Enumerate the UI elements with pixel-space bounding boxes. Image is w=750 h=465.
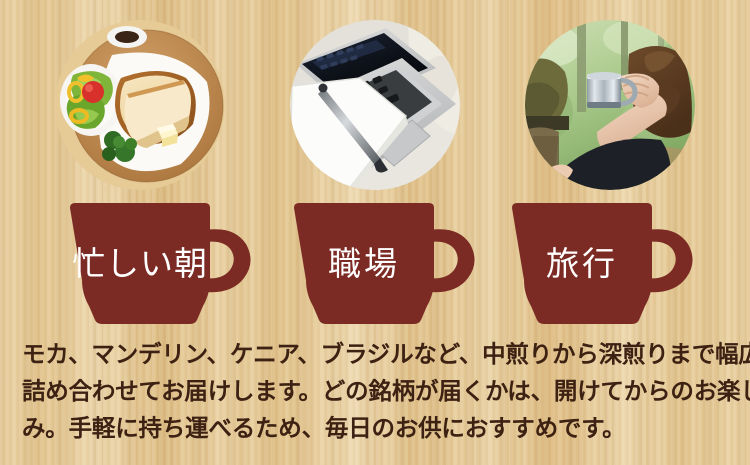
outdoor-mug-photo xyxy=(525,20,695,190)
description-line-1: モカ、マンデリン、ケニア、ブラジルなど、中煎りから深煎りまで幅広く xyxy=(22,336,734,373)
cup-badge-workplace: 職場 xyxy=(290,202,486,324)
description-text: モカ、マンデリン、ケニア、ブラジルなど、中煎りから深煎りまで幅広く 詰め合わせて… xyxy=(22,336,734,447)
cup-badge-travel: 旅行 xyxy=(508,202,704,324)
description-line-2: 詰め合わせてお届けします。どの銘柄が届くかは、開けてからのお楽し xyxy=(22,373,734,410)
cup-label-workplace: 職場 xyxy=(290,202,438,324)
cup-badge-row: 忙しい朝 職場 旅行 xyxy=(0,202,750,324)
cup-label-travel: 旅行 xyxy=(508,202,656,324)
breakfast-toast-photo xyxy=(55,20,225,190)
cup-label-busy-morning: 忙しい朝 xyxy=(66,202,214,324)
description-line-3: み。手軽に持ち運べるため、毎日のお供におすすめです。 xyxy=(22,410,734,447)
laptop-desk-photo xyxy=(290,20,460,190)
photo-circle-row xyxy=(0,20,750,190)
cup-badge-busy-morning: 忙しい朝 xyxy=(66,202,262,324)
product-promo-banner: 忙しい朝 職場 旅行 モカ、マンデリン、ケニア、ブラジルなど、中煎りから深煎り xyxy=(0,0,750,465)
